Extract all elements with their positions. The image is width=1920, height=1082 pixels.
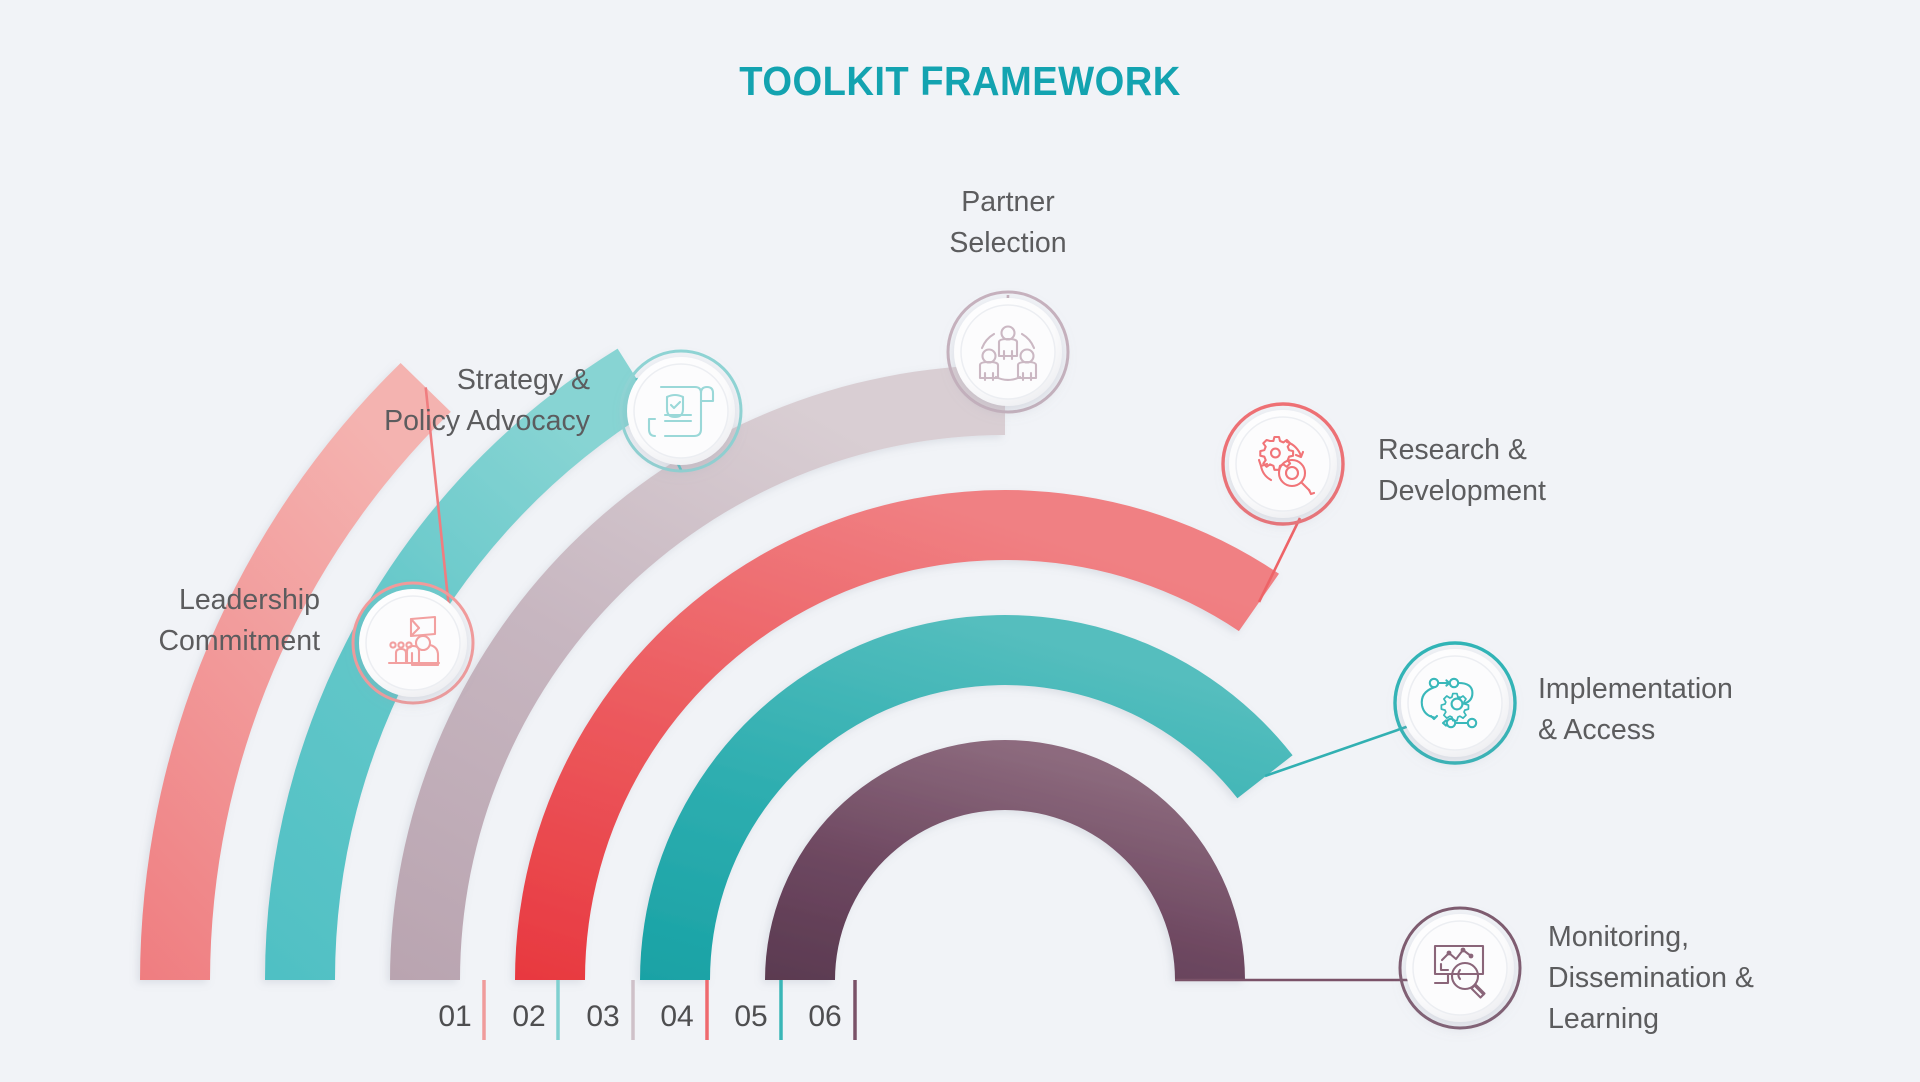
icon-node-06[interactable] — [1400, 908, 1520, 1028]
step-number-01: 01 — [425, 1000, 485, 1034]
step-label-partner: Partner Selection — [878, 182, 1138, 264]
icon-node-04[interactable] — [1223, 404, 1343, 524]
icon-disc-inner-06 — [1413, 921, 1507, 1015]
step-label-strategy: Strategy & Policy Advocacy — [300, 360, 590, 442]
infographic-canvas: TOOLKIT FRAMEWORK — [0, 0, 1920, 1082]
arc-segment-06[interactable] — [765, 740, 1245, 980]
connector-04 — [1259, 518, 1300, 602]
step-label-leadership: Leadership Commitment — [40, 580, 320, 662]
icon-node-02[interactable] — [621, 351, 741, 471]
step-label-research: Research & Development — [1378, 430, 1708, 512]
step-number-04: 04 — [647, 1000, 707, 1034]
step-number-02: 02 — [499, 1000, 559, 1034]
icon-disc-inner-02 — [634, 364, 728, 458]
icon-disc-inner-01 — [366, 596, 460, 690]
step-label-monitoring: Monitoring, Dissemination & Learning — [1548, 917, 1898, 1040]
icon-node-03[interactable] — [948, 292, 1068, 412]
icon-disc-inner-03 — [961, 305, 1055, 399]
icon-node-05[interactable] — [1395, 643, 1515, 763]
step-number-05: 05 — [721, 1000, 781, 1034]
step-label-implementation: Implementation & Access — [1538, 669, 1878, 751]
icon-node-01[interactable] — [353, 583, 473, 703]
step-number-06: 06 — [795, 1000, 855, 1034]
step-number-03: 03 — [573, 1000, 633, 1034]
